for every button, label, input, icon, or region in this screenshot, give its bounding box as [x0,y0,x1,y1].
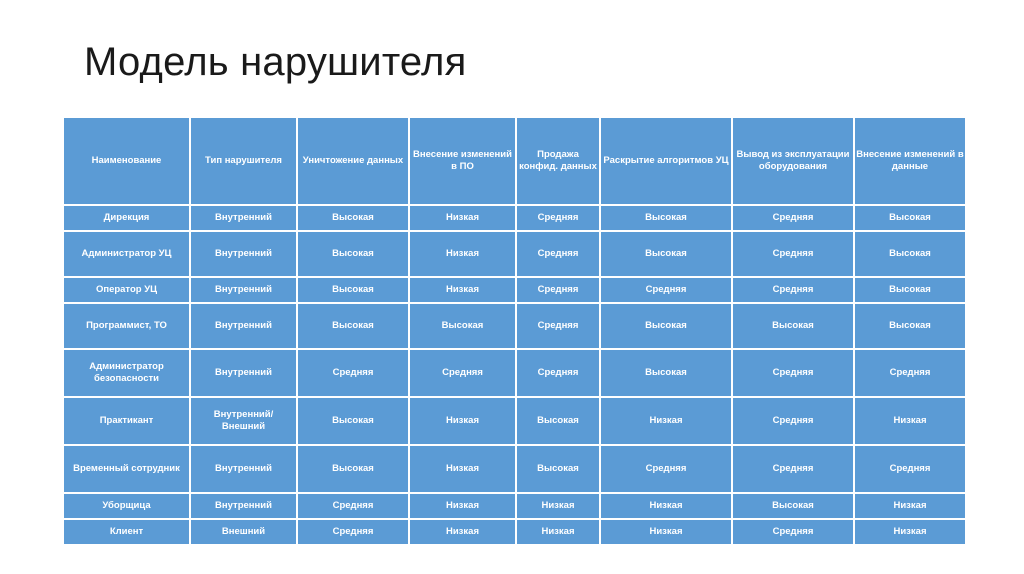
cell-risk-level: Высокая [298,398,408,444]
cell-risk-level: Высокая [517,446,599,492]
cell-risk-level: Средняя [733,232,853,276]
column-header-equipment-decom: Вывод из эксплуатации оборудования [733,118,853,204]
page-title: Модель нарушителя [84,40,466,84]
cell-risk-level: Высокая [733,494,853,518]
cell-risk-level: Низкая [410,398,515,444]
column-header-software-changes: Внесение изменений в ПО [410,118,515,204]
cell-risk-level: Средняя [517,350,599,396]
threat-matrix-container: Наименование Тип нарушителя Уничтожение … [62,116,960,546]
table-row: ПрактикантВнутренний/ ВнешнийВысокаяНизк… [64,398,965,444]
cell-risk-level: Высокая [601,304,731,348]
slide-canvas: Модель нарушителя Наименование Тип наруш… [0,0,1024,574]
table-header-row: Наименование Тип нарушителя Уничтожение … [64,118,965,204]
cell-risk-level: Высокая [298,232,408,276]
cell-risk-level: Высокая [601,206,731,230]
row-header-name: Практикант [64,398,189,444]
column-header-data-destruction: Уничтожение данных [298,118,408,204]
cell-risk-level: Высокая [733,304,853,348]
table-row: Оператор УЦВнутреннийВысокаяНизкаяСредня… [64,278,965,302]
cell-risk-level: Средняя [733,278,853,302]
row-header-name: Временный сотрудник [64,446,189,492]
cell-intruder-type: Внутренний [191,304,296,348]
cell-risk-level: Средняя [733,520,853,544]
cell-risk-level: Средняя [601,446,731,492]
table-body: ДирекцияВнутреннийВысокаяНизкаяСредняяВы… [64,206,965,544]
threat-matrix-table: Наименование Тип нарушителя Уничтожение … [62,116,967,546]
cell-risk-level: Высокая [601,350,731,396]
cell-risk-level: Низкая [410,232,515,276]
cell-intruder-type: Внутренний [191,494,296,518]
cell-risk-level: Низкая [410,494,515,518]
column-header-data-changes: Внесение изменений в данные [855,118,965,204]
cell-risk-level: Высокая [855,206,965,230]
table-header: Наименование Тип нарушителя Уничтожение … [64,118,965,204]
cell-risk-level: Низкая [410,278,515,302]
table-row: Временный сотрудникВнутреннийВысокаяНизк… [64,446,965,492]
cell-risk-level: Низкая [855,520,965,544]
column-header-name: Наименование [64,118,189,204]
table-row: КлиентВнешнийСредняяНизкаяНизкаяНизкаяСр… [64,520,965,544]
cell-risk-level: Высокая [298,304,408,348]
cell-risk-level: Средняя [410,350,515,396]
cell-risk-level: Средняя [855,350,965,396]
cell-risk-level: Средняя [601,278,731,302]
table-row: Программист, ТОВнутреннийВысокаяВысокаяС… [64,304,965,348]
cell-risk-level: Средняя [298,350,408,396]
table-row: Администратор безопасностиВнутреннийСред… [64,350,965,396]
cell-intruder-type: Внутренний/ Внешний [191,398,296,444]
cell-risk-level: Высокая [517,398,599,444]
cell-risk-level: Высокая [855,304,965,348]
row-header-name: Оператор УЦ [64,278,189,302]
cell-risk-level: Средняя [855,446,965,492]
cell-risk-level: Средняя [517,206,599,230]
row-header-name: Клиент [64,520,189,544]
cell-intruder-type: Внутренний [191,446,296,492]
row-header-name: Дирекция [64,206,189,230]
cell-risk-level: Средняя [298,494,408,518]
cell-risk-level: Высокая [855,278,965,302]
row-header-name: Уборщица [64,494,189,518]
cell-risk-level: Низкая [601,494,731,518]
cell-risk-level: Высокая [855,232,965,276]
cell-risk-level: Средняя [733,446,853,492]
row-header-name: Администратор безопасности [64,350,189,396]
cell-intruder-type: Внешний [191,520,296,544]
cell-risk-level: Низкая [410,520,515,544]
cell-intruder-type: Внутренний [191,278,296,302]
cell-intruder-type: Внутренний [191,206,296,230]
cell-risk-level: Высокая [410,304,515,348]
table-row: Администратор УЦВнутреннийВысокаяНизкаяС… [64,232,965,276]
cell-risk-level: Средняя [517,304,599,348]
cell-risk-level: Низкая [601,520,731,544]
cell-intruder-type: Внутренний [191,350,296,396]
cell-risk-level: Средняя [517,278,599,302]
row-header-name: Администратор УЦ [64,232,189,276]
column-header-confidential-sale: Продажа конфид. данных [517,118,599,204]
column-header-intruder-type: Тип нарушителя [191,118,296,204]
cell-risk-level: Средняя [733,398,853,444]
cell-risk-level: Средняя [733,350,853,396]
table-row: ДирекцияВнутреннийВысокаяНизкаяСредняяВы… [64,206,965,230]
cell-risk-level: Низкая [410,446,515,492]
cell-risk-level: Низкая [855,398,965,444]
cell-risk-level: Высокая [298,446,408,492]
cell-risk-level: Средняя [298,520,408,544]
cell-risk-level: Низкая [410,206,515,230]
cell-risk-level: Средняя [733,206,853,230]
cell-intruder-type: Внутренний [191,232,296,276]
table-row: УборщицаВнутреннийСредняяНизкаяНизкаяНиз… [64,494,965,518]
cell-risk-level: Высокая [298,278,408,302]
cell-risk-level: Высокая [298,206,408,230]
cell-risk-level: Средняя [517,232,599,276]
cell-risk-level: Низкая [601,398,731,444]
cell-risk-level: Высокая [601,232,731,276]
cell-risk-level: Низкая [855,494,965,518]
cell-risk-level: Низкая [517,520,599,544]
row-header-name: Программист, ТО [64,304,189,348]
cell-risk-level: Низкая [517,494,599,518]
column-header-algorithm-exposure: Раскрытие алгоритмов УЦ [601,118,731,204]
